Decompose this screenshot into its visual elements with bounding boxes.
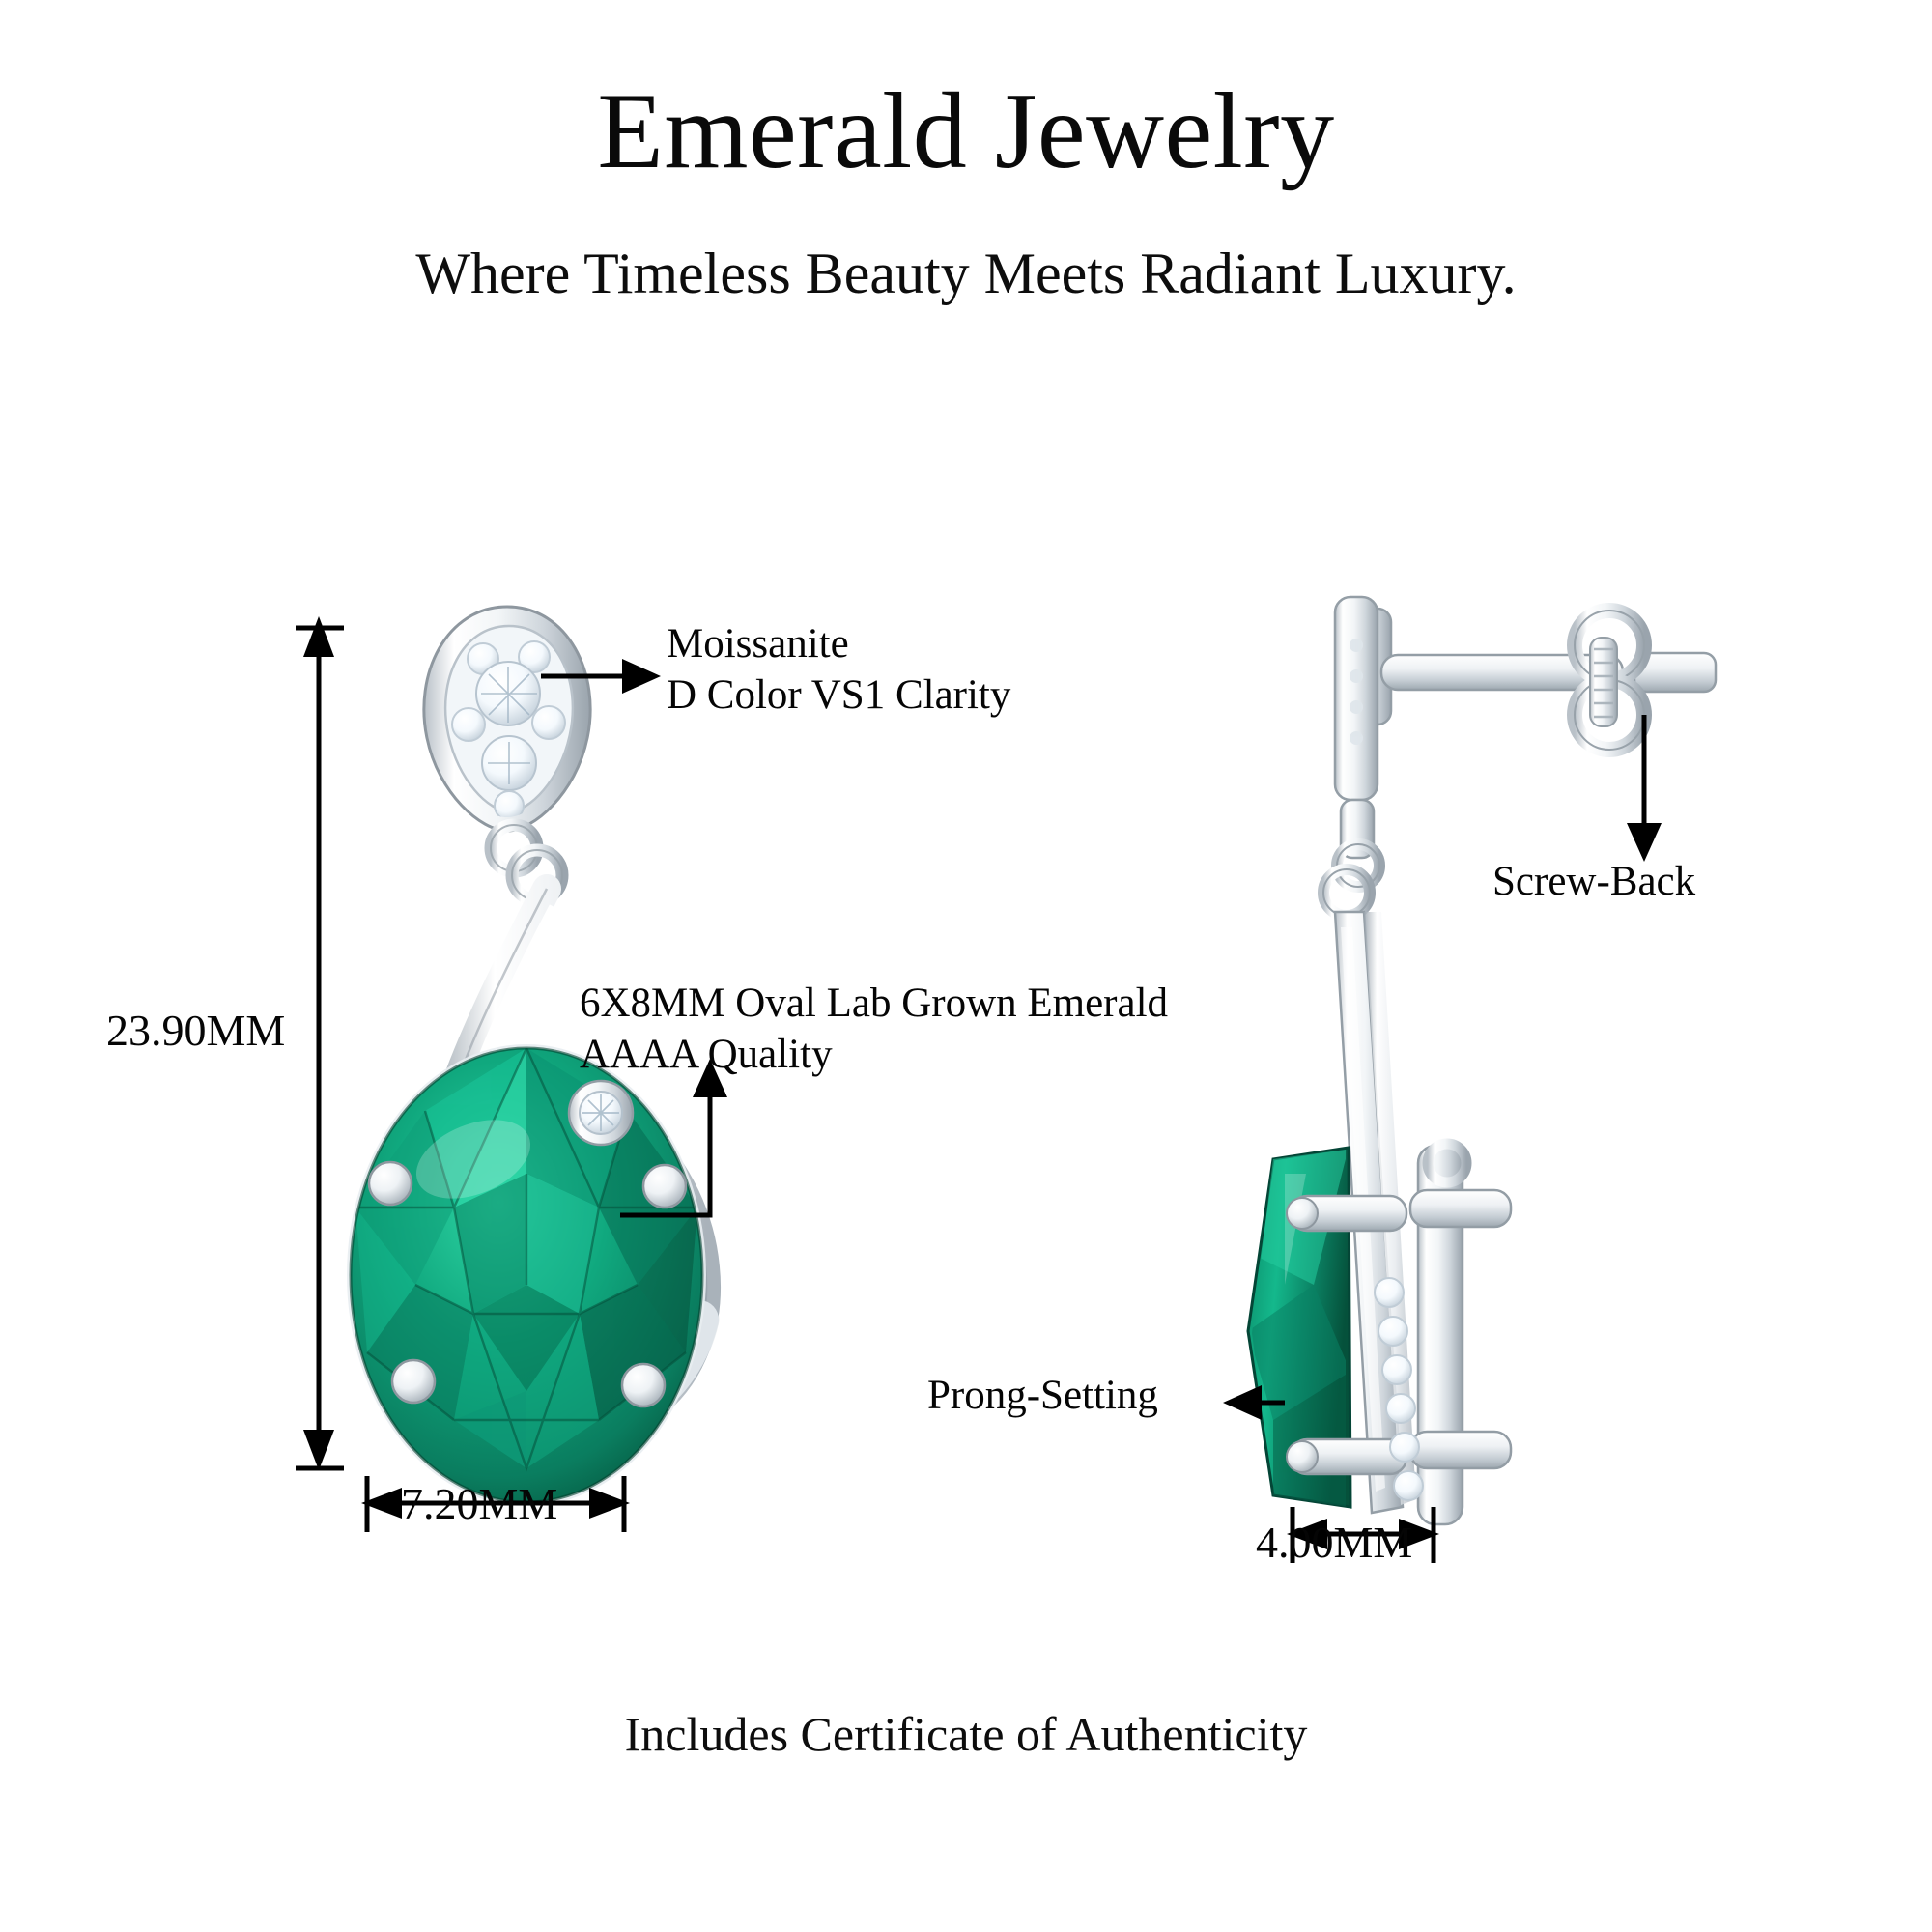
pave-teardrop-stud bbox=[424, 607, 590, 831]
screw-back-butterfly bbox=[1575, 611, 1644, 750]
dimension-label-depth: 4.00MM bbox=[1256, 1517, 1412, 1568]
certificate-note: Includes Certificate of Authenticity bbox=[0, 1708, 1932, 1761]
accent-bezel-stone bbox=[569, 1081, 633, 1145]
infographic-canvas: Emerald Jewelry Where Timeless Beauty Me… bbox=[0, 0, 1932, 1932]
dimension-label-width: 7.20MM bbox=[401, 1478, 557, 1529]
dimension-label-height: 23.90MM bbox=[106, 1005, 285, 1056]
center-emerald-stone bbox=[347, 1044, 706, 1506]
dimension-height bbox=[296, 616, 344, 1470]
annotation-prong-setting: Prong-Setting bbox=[927, 1370, 1158, 1421]
annotation-screw-back: Screw-Back bbox=[1492, 856, 1695, 907]
annotation-moissanite: Moissanite D Color VS1 Clarity bbox=[667, 618, 1010, 722]
side-back-plate bbox=[1410, 1144, 1511, 1524]
jewelry-artwork-layer bbox=[0, 0, 1932, 1932]
annotation-emerald: 6X8MM Oval Lab Grown Emerald AAAA Qualit… bbox=[580, 978, 1168, 1081]
screw-back-post bbox=[1341, 609, 1716, 750]
side-stud-plate bbox=[1335, 597, 1378, 858]
